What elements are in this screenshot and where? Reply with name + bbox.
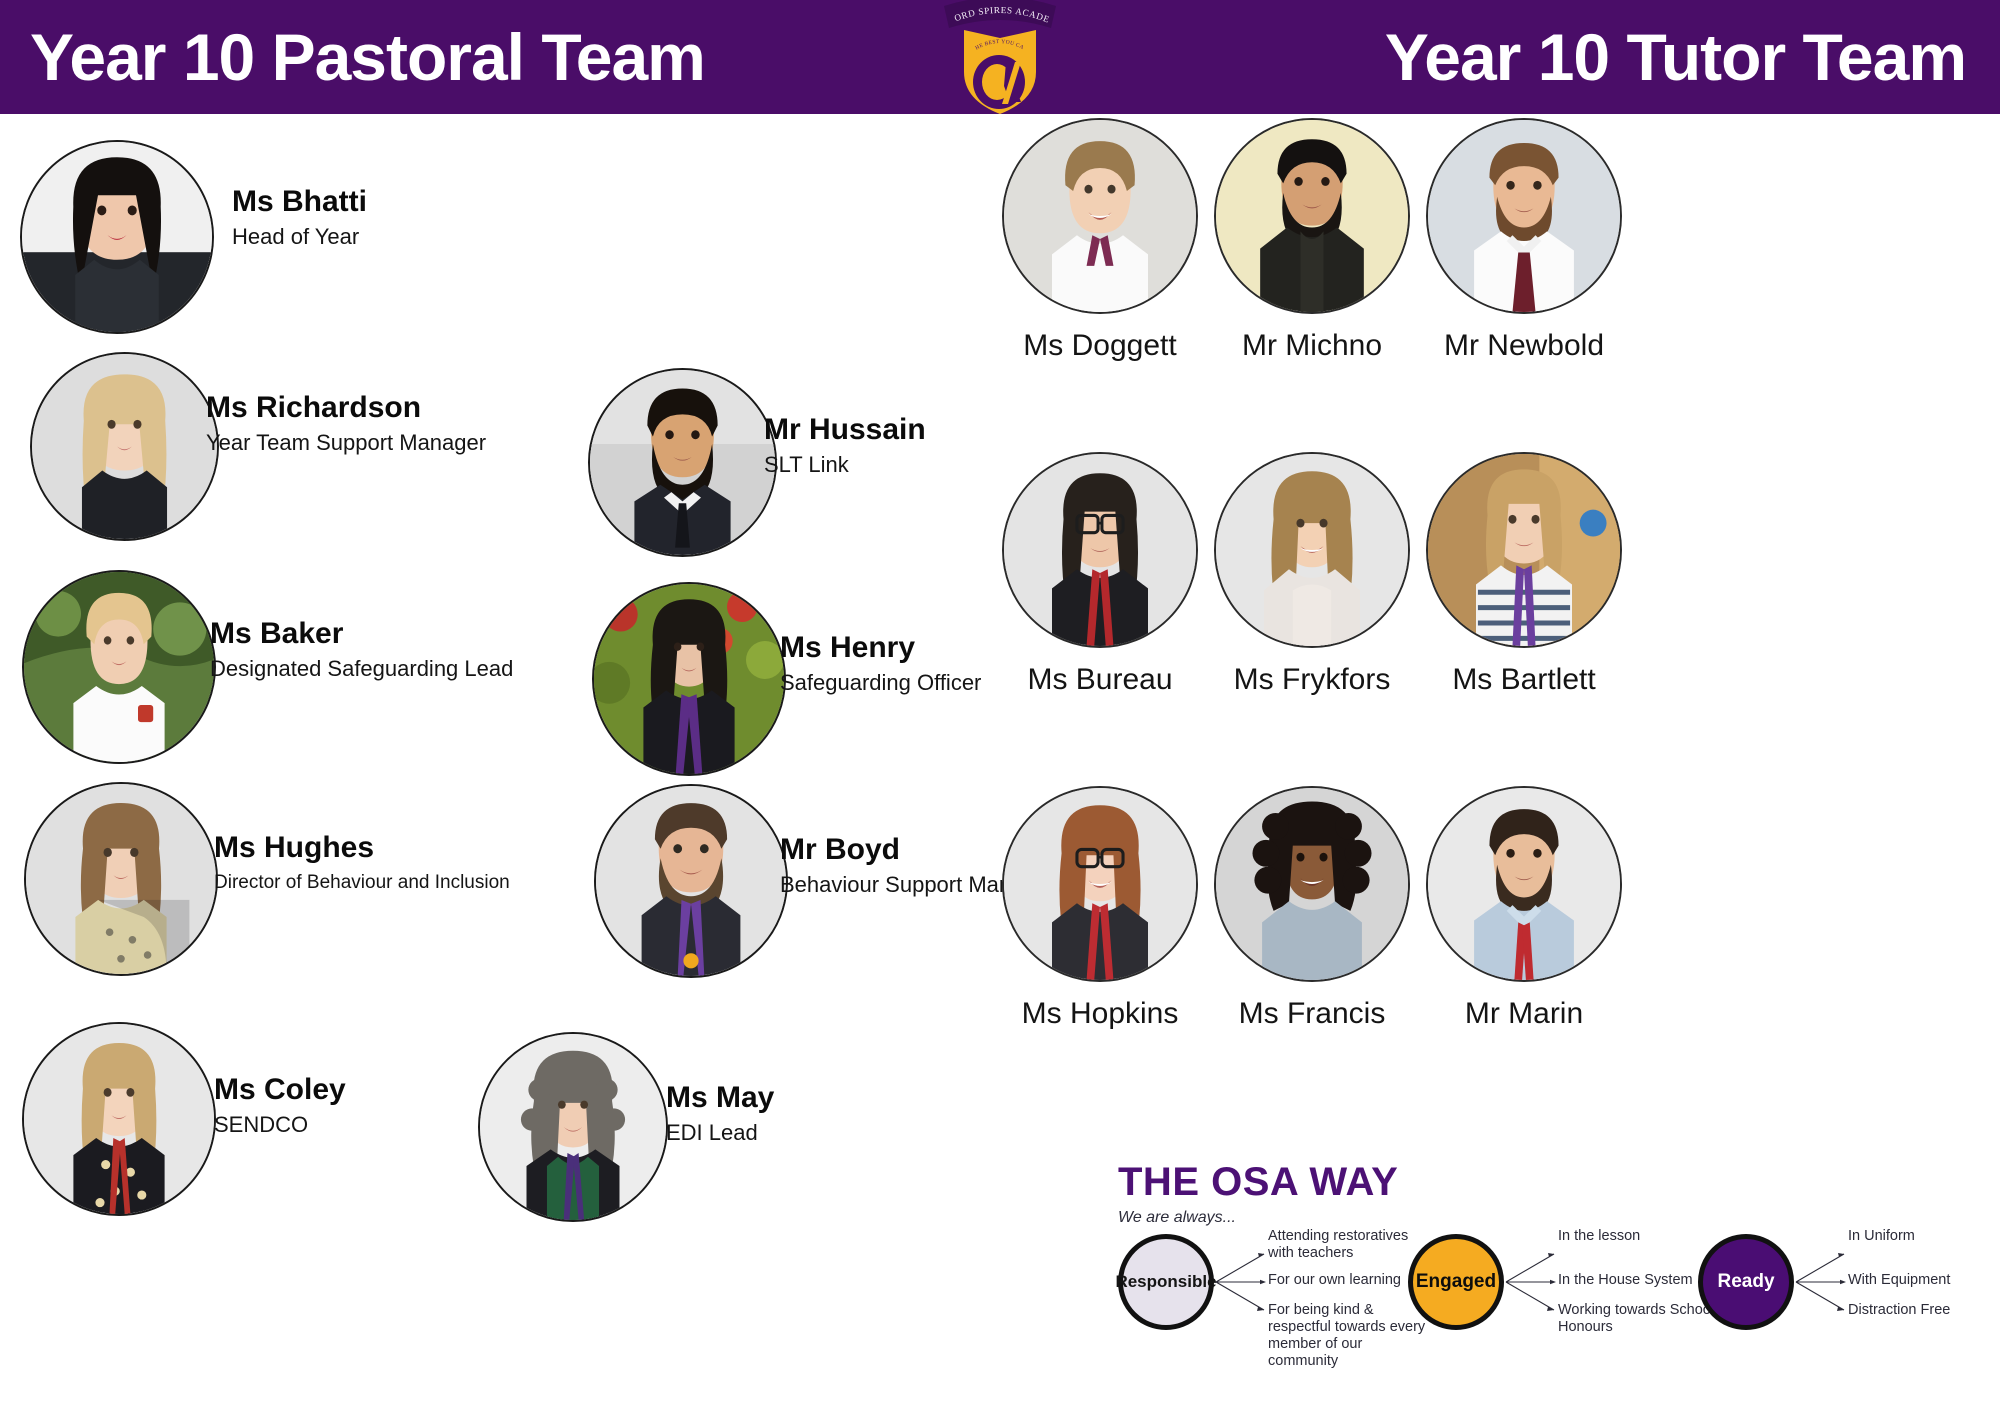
tutor-name: Mr Newbold bbox=[1374, 328, 1674, 364]
osa-circle-label: Ready bbox=[1717, 1273, 1774, 1291]
portrait-coley bbox=[22, 1022, 216, 1216]
pastoral-card-hughes[interactable]: Ms Hughes Director of Behaviour and Incl… bbox=[24, 782, 604, 972]
osa-item: Attending restoratives with teachers bbox=[1268, 1228, 1436, 1262]
pastoral-text-baker: Ms Baker Designated Safeguarding Lead bbox=[210, 616, 513, 684]
pastoral-text-bhatti: Ms Bhatti Head of Year bbox=[232, 184, 367, 252]
osa-connector-lines-ready bbox=[1794, 1234, 1850, 1330]
osa-item: For our own learning bbox=[1268, 1272, 1401, 1289]
tutor-card-bartlett[interactable]: Ms Bartlett bbox=[1374, 452, 1674, 698]
portrait-may bbox=[478, 1032, 668, 1222]
osa-circle-ready[interactable]: Ready bbox=[1698, 1234, 1794, 1330]
tutor-card-newbold[interactable]: Mr Newbold bbox=[1374, 118, 1674, 364]
osa-circle-engaged[interactable]: Engaged bbox=[1408, 1234, 1504, 1330]
person-name: Ms Bhatti bbox=[232, 184, 367, 220]
osa-connector-lines-engaged bbox=[1504, 1234, 1560, 1330]
tutor-card-marin[interactable]: Mr Marin bbox=[1374, 786, 1674, 1032]
tutor-name: Ms Bartlett bbox=[1374, 662, 1674, 698]
person-name: Ms May bbox=[666, 1080, 774, 1116]
osa-item: In Uniform bbox=[1848, 1228, 1915, 1245]
osa-way-subtitle: We are always... bbox=[1118, 1208, 1998, 1228]
portrait-hussain bbox=[588, 368, 777, 557]
person-role: SLT Link bbox=[764, 450, 926, 480]
pastoral-text-coley: Ms Coley SENDCO bbox=[214, 1072, 346, 1140]
osa-item: For being kind & respectful towards ever… bbox=[1268, 1302, 1436, 1370]
page-title-pastoral: Year 10 Pastoral Team bbox=[30, 8, 705, 106]
person-name: Ms Hughes bbox=[214, 830, 510, 866]
pastoral-card-baker[interactable]: Ms Baker Designated Safeguarding Lead bbox=[22, 570, 602, 760]
pastoral-card-richardson[interactable]: Ms Richardson Year Team Support Manager bbox=[30, 352, 610, 537]
school-crest-icon: OXFORD SPIRES ACADEMY BE THE BEST YOU CA… bbox=[920, 0, 1080, 115]
page-title-tutor: Year 10 Tutor Team bbox=[1385, 8, 1966, 106]
portrait-marin bbox=[1426, 786, 1622, 982]
portrait-bartlett bbox=[1426, 452, 1622, 648]
person-name: Ms Baker bbox=[210, 616, 513, 652]
pastoral-text-hughes: Ms Hughes Director of Behaviour and Incl… bbox=[214, 830, 510, 898]
osa-item: In the lesson bbox=[1558, 1228, 1640, 1245]
tutor-team-grid: Ms Doggett Mr Michno bbox=[950, 118, 1990, 1158]
person-role: Head of Year bbox=[232, 222, 367, 252]
person-name: Ms Richardson bbox=[206, 390, 486, 426]
osa-way-panel: THE OSA WAY We are always... Responsible… bbox=[1118, 1160, 1998, 1414]
osa-item: Working towards School Honours bbox=[1558, 1302, 1726, 1336]
portrait-newbold bbox=[1426, 118, 1622, 314]
osa-circle-label: Engaged bbox=[1416, 1273, 1496, 1291]
person-role: EDI Lead bbox=[666, 1118, 774, 1148]
pastoral-text-may: Ms May EDI Lead bbox=[666, 1080, 774, 1148]
portrait-richardson bbox=[30, 352, 219, 541]
portrait-baker bbox=[22, 570, 216, 764]
person-name: Ms Coley bbox=[214, 1072, 346, 1108]
person-role: Director of Behaviour and Inclusion bbox=[214, 868, 510, 898]
pastoral-text-hussain: Mr Hussain SLT Link bbox=[764, 412, 926, 480]
portrait-hughes bbox=[24, 782, 218, 976]
osa-connector-lines-responsible bbox=[1214, 1234, 1270, 1330]
osa-item: In the House System bbox=[1558, 1272, 1693, 1289]
portrait-henry bbox=[592, 582, 786, 776]
portrait-bhatti bbox=[20, 140, 214, 334]
portrait-boyd bbox=[594, 784, 788, 978]
pastoral-card-bhatti[interactable]: Ms Bhatti Head of Year bbox=[20, 140, 640, 330]
osa-item: Distraction Free bbox=[1848, 1302, 1950, 1319]
person-role: Year Team Support Manager bbox=[206, 428, 486, 458]
osa-circle-responsible[interactable]: Responsible bbox=[1118, 1234, 1214, 1330]
osa-circle-label: Responsible bbox=[1115, 1273, 1216, 1291]
person-name: Mr Hussain bbox=[764, 412, 926, 448]
person-role: SENDCO bbox=[214, 1110, 346, 1140]
person-role: Designated Safeguarding Lead bbox=[210, 654, 513, 684]
osa-item: With Equipment bbox=[1848, 1272, 1950, 1289]
osa-way-heading: THE OSA WAY bbox=[1118, 1160, 1998, 1204]
tutor-name: Mr Marin bbox=[1374, 996, 1674, 1032]
pastoral-text-richardson: Ms Richardson Year Team Support Manager bbox=[206, 390, 486, 458]
